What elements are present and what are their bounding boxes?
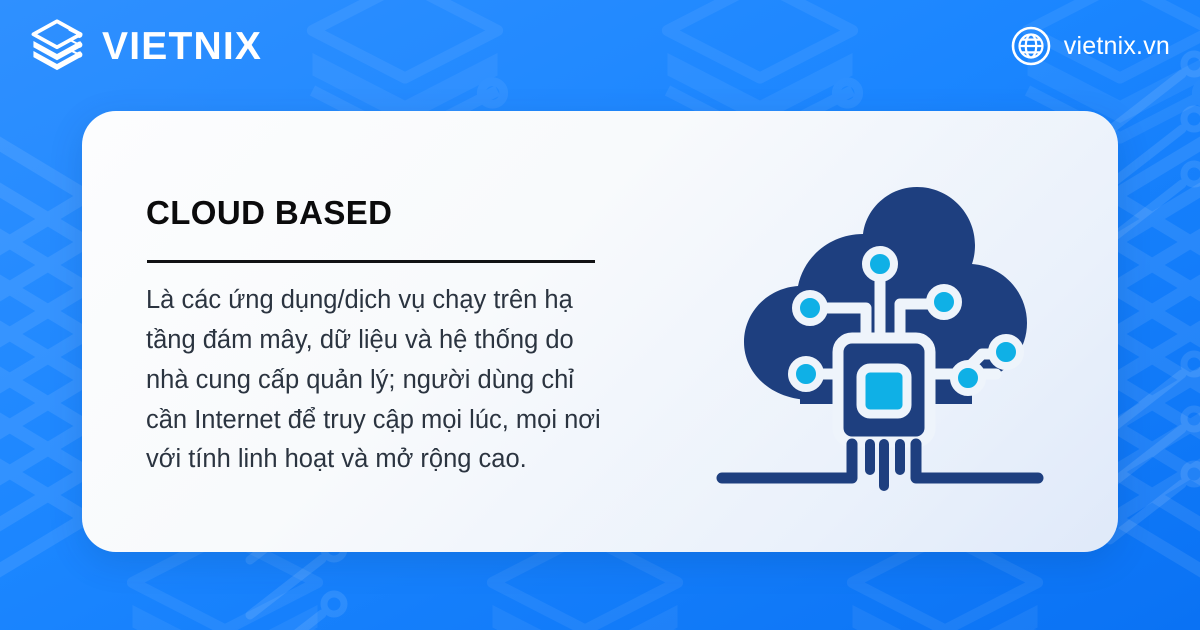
site-url-text: vietnix.vn: [1064, 32, 1170, 61]
brand-logo[interactable]: VIETNIX: [26, 15, 262, 77]
cloud-computing-chip-icon: [700, 152, 1060, 512]
brand-name: VIETNIX: [102, 27, 262, 66]
card-illustration-column: [642, 111, 1118, 552]
globe-icon: [1011, 26, 1051, 66]
stacked-layers-logo-icon: [26, 15, 88, 77]
card-text-column: CLOUD BASED Là các ứng dụng/dịch vụ chạy…: [82, 111, 642, 552]
card-description: Là các ứng dụng/dịch vụ chạy trên hạ tần…: [146, 281, 608, 480]
site-url-link[interactable]: vietnix.vn: [1011, 26, 1170, 66]
title-divider: [147, 260, 595, 263]
banner-canvas: VIETNIX vietnix.vn CLOUD BASED Là các ứn…: [0, 0, 1200, 630]
card-title: CLOUD BASED: [146, 195, 642, 231]
content-card: CLOUD BASED Là các ứng dụng/dịch vụ chạy…: [82, 111, 1118, 552]
banner-header: VIETNIX vietnix.vn: [0, 0, 1200, 92]
